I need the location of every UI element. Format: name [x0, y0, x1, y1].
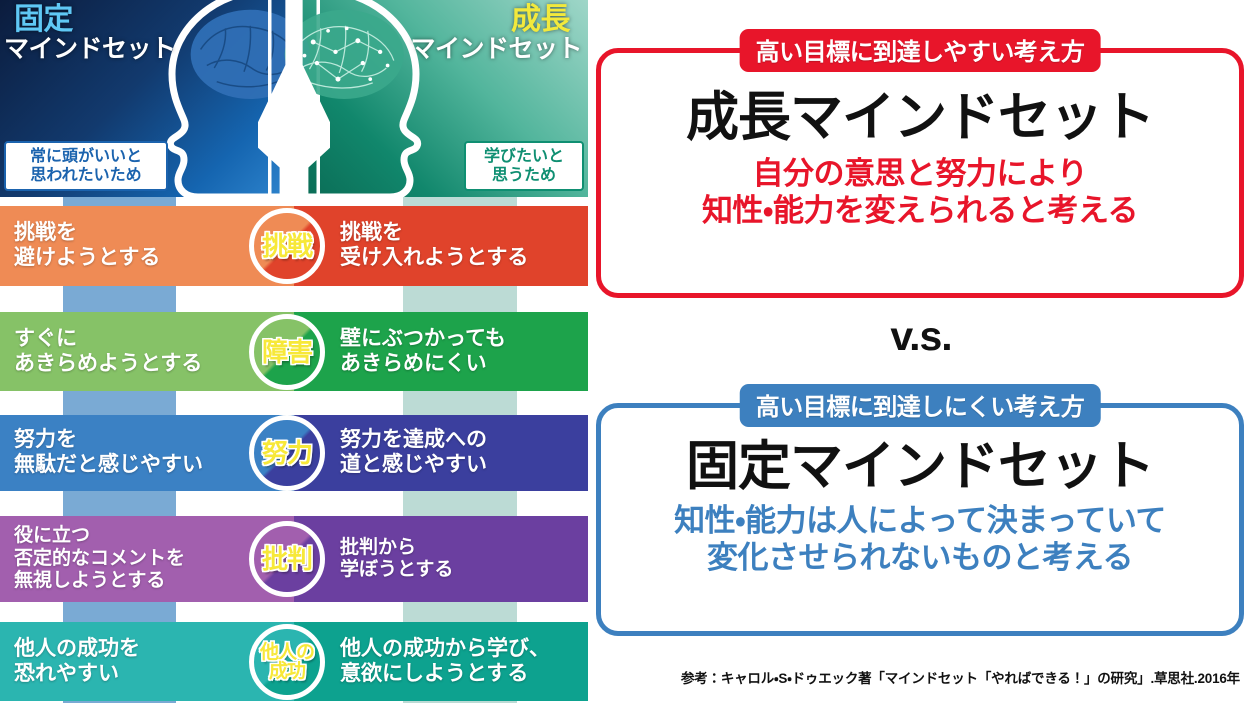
- comparison-row-badge: 努力: [249, 415, 325, 491]
- comparison-row-growth-text: 挑戦を受け入れようとする: [294, 221, 536, 271]
- comparison-row-fixed-text: 挑戦を避けようとする: [0, 221, 240, 271]
- fixed-mindset-tag: 高い目標に到達しにくい考え方: [740, 384, 1101, 427]
- growth-mindset-summary-box: 高い目標に到達しやすい考え方 成長マインドセット 自分の意思と努力により知性・能…: [596, 48, 1244, 298]
- left-comparison-chart: 固定 マインドセット 知性は固定されていると考えている 常に頭がいいと思われたい…: [0, 0, 588, 703]
- fixed-mindset-headline: 固定マインドセット: [601, 440, 1239, 493]
- comparison-row-badge: 他人の成功: [249, 624, 325, 700]
- comparison-row-growth-side: 挑戦を受け入れようとする: [294, 206, 588, 286]
- badge-connector: [275, 286, 299, 312]
- comparison-row-badge-label: 他人の成功: [260, 643, 314, 681]
- growth-mindset-title-main: 成長: [511, 4, 570, 36]
- comparison-row: 役に立つ否定的なコメントを無視しようとする批判から学ぼうとする批判: [0, 516, 588, 602]
- growth-mindset-detail: 自分の意思と努力により知性・能力を変えられると考える: [601, 156, 1239, 229]
- versus-label: v.s.: [588, 313, 1254, 360]
- fixed-mindset-title-main: 固定: [14, 4, 73, 36]
- comparison-row-growth-side: 壁にぶつかってもあきらめにくい: [294, 312, 588, 391]
- comparison-row: 挑戦を避けようとする挑戦を受け入れようとする挑戦: [0, 206, 588, 286]
- growth-mindset-tag: 高い目標に到達しやすい考え方: [740, 29, 1101, 72]
- comparison-row-growth-side: 努力を達成への道と感じやすい: [294, 415, 588, 491]
- badge-connector: [275, 491, 299, 516]
- comparison-row-growth-text: 他人の成功から学び、意欲にしようとする: [294, 637, 558, 687]
- comparison-row: 努力を無駄だと感じやすい努力を達成への道と感じやすい努力: [0, 415, 588, 491]
- fixed-mindset-summary-box: 高い目標に到達しにくい考え方 固定マインドセット 知性・能力は人によって決まって…: [596, 403, 1244, 636]
- comparison-row-fixed-text: すぐにあきらめようとする: [0, 327, 282, 377]
- comparison-row-badge: 批判: [249, 521, 325, 597]
- source-citation: 参考：キャロル・S・ドゥエック著「マインドセット「やればできる！」の研究」.草思…: [588, 667, 1240, 687]
- comparison-row-growth-side: 批判から学ぼうとする: [294, 516, 588, 602]
- badge-connector: [275, 391, 299, 415]
- growth-mindset-callout: 学びたいと思うため: [464, 141, 584, 191]
- comparison-row-badge-label: 努力: [262, 440, 312, 466]
- fixed-mindset-detail: 知性・能力は人によって決まっていて変化させられないものと考える: [601, 503, 1239, 576]
- growth-mindset-title-sub: マインドセット: [410, 36, 582, 62]
- right-summary-column: 高い目標に到達しやすい考え方 成長マインドセット 自分の意思と努力により知性・能…: [588, 0, 1254, 703]
- comparison-row-fixed-text: 役に立つ否定的なコメントを無視しようとする: [0, 525, 265, 592]
- badge-connector: [275, 602, 299, 622]
- comparison-row-badge: 挑戦: [249, 208, 325, 284]
- comparison-row: すぐにあきらめようとする壁にぶつかってもあきらめにくい障害: [0, 312, 588, 391]
- comparison-row-badge-label: 挑戦: [262, 233, 312, 259]
- comparison-row-growth-text: 壁にぶつかってもあきらめにくい: [294, 327, 514, 377]
- fixed-mindset-callout: 常に頭がいいと思われたいため: [4, 141, 168, 191]
- comparison-row-fixed-text: 他人の成功を恐れやすい: [0, 637, 220, 687]
- comparison-row-growth-side: 他人の成功から学び、意欲にしようとする: [294, 622, 588, 701]
- comparison-row-fixed-text: 努力を無駄だと感じやすい: [0, 428, 283, 478]
- brain-header-panel: 固定 マインドセット 知性は固定されていると考えている 常に頭がいいと思われたい…: [0, 0, 588, 197]
- comparison-row-badge: 障害: [249, 314, 325, 390]
- comparison-row-badge-label: 批判: [262, 546, 312, 572]
- comparison-row-badge-label: 障害: [262, 339, 312, 365]
- fixed-mindset-title-sub: マインドセット: [4, 36, 176, 62]
- comparison-row: 他人の成功を恐れやすい他人の成功から学び、意欲にしようとする他人の成功: [0, 622, 588, 701]
- growth-mindset-headline: 成長マインドセット: [601, 91, 1239, 144]
